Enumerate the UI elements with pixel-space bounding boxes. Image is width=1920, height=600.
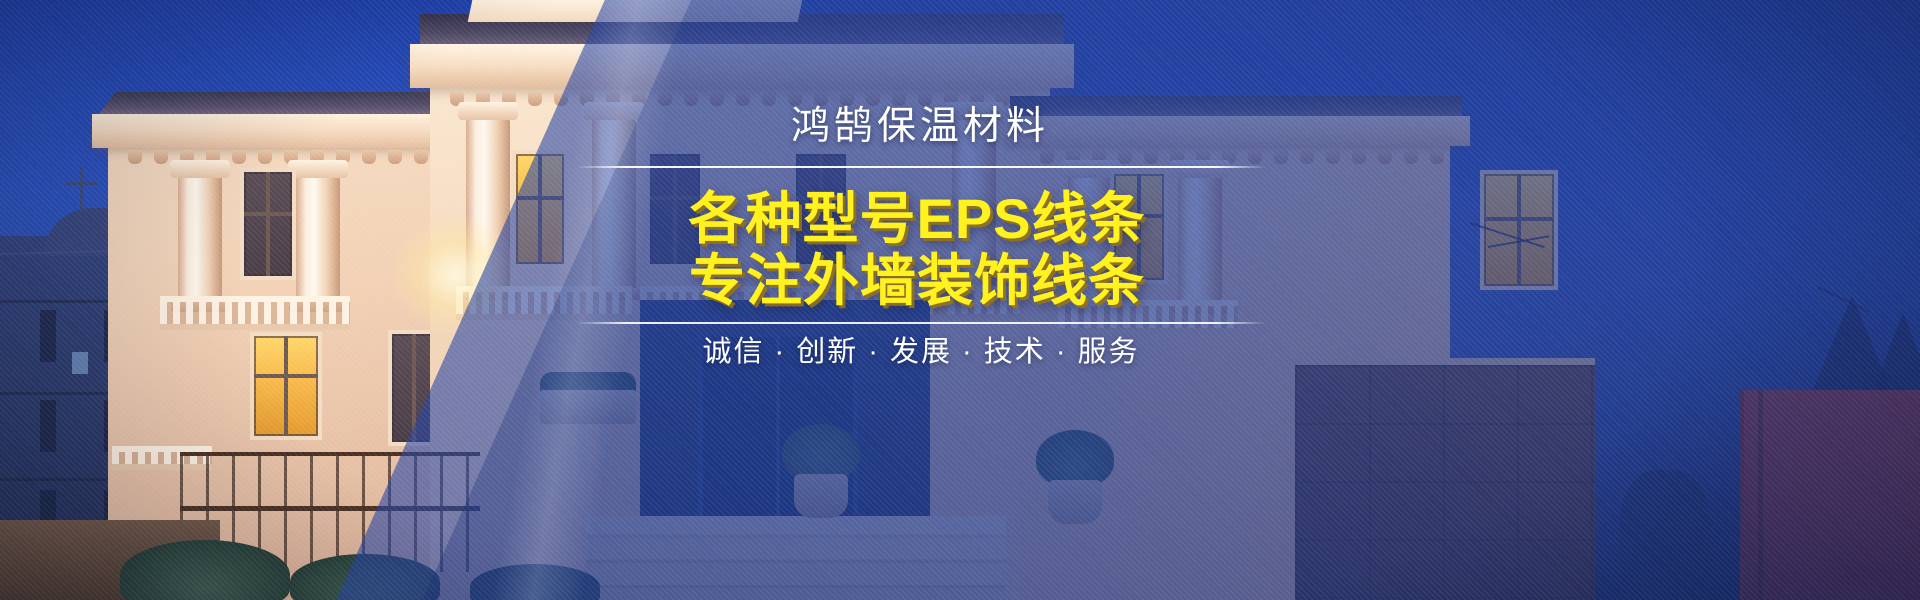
railing-rail [180,506,480,511]
villa-column [296,176,340,302]
company-slogan: 诚信 · 创新 · 发展 · 技术 · 服务 [578,332,1264,372]
divider-bottom [576,322,1266,324]
villa-column [178,176,222,302]
bare-branch [1818,286,1869,312]
villa-window [240,168,296,280]
red-wall-structure [1740,390,1920,600]
banner-copy-block: 鸿鹄保温材料 各种型号EPS线条 专注外墙装饰线条 诚信 · 创新 · 发展 ·… [694,0,1354,600]
headline-line-2: 专注外墙装饰线条 [552,252,1282,310]
promo-banner: 鸿鹄保温材料 各种型号EPS线条 专注外墙装饰线条 诚信 · 创新 · 发展 ·… [0,0,1920,600]
headline-line-1: 各种型号EPS线条 [552,190,1282,248]
planter-box [540,390,636,424]
villa-column [466,118,510,290]
divider-top [576,166,1266,168]
planter-stand [556,424,620,470]
red-wall-edge [1758,390,1763,600]
balustrade [160,296,350,330]
brand-name: 鸿鹄保温材料 [580,103,1260,151]
tree-silhouette [1620,470,1710,600]
railing-rail [180,452,480,456]
villa-lit-window [250,332,322,440]
